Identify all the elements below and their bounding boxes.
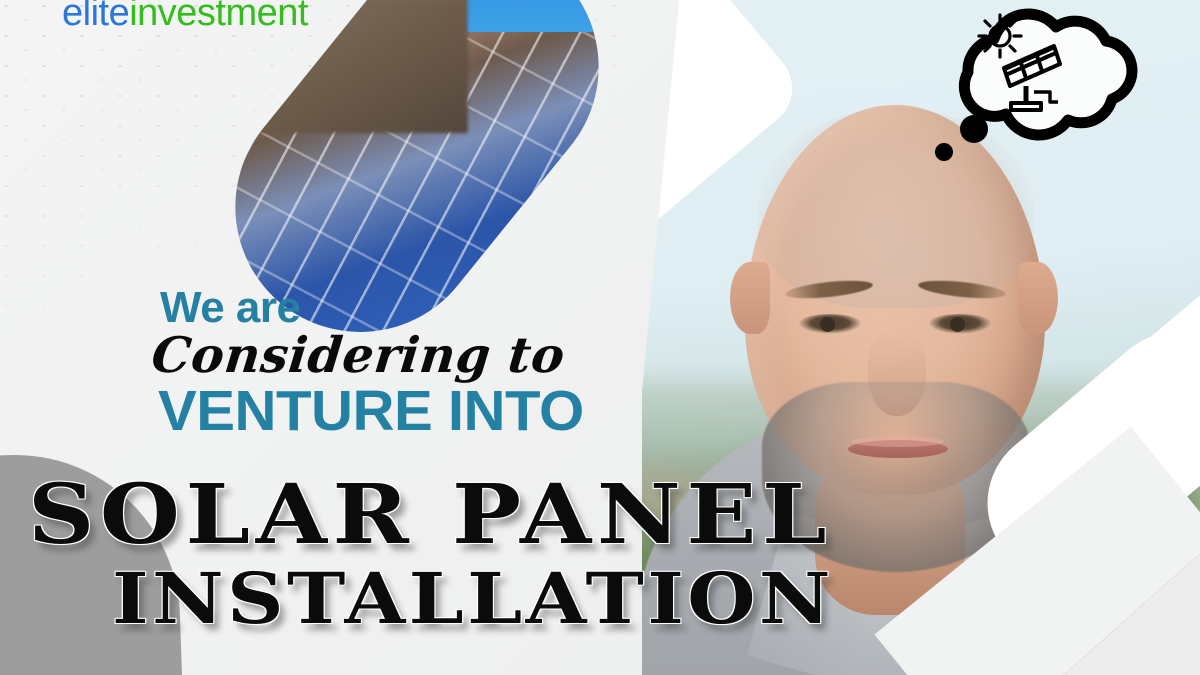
headline-line-considering: Considering to	[149, 331, 567, 380]
logo-word-investment: investment	[129, 0, 308, 34]
headline-line-venture-into: VENTURE INTO	[158, 383, 584, 440]
banner-canvas: eliteinvestment We are Considering to VE…	[0, 0, 1200, 675]
person-ear-right	[1018, 262, 1058, 334]
headline-line-installation: INSTALLATION	[112, 564, 834, 634]
brand-logo[interactable]: eliteinvestment	[62, 0, 308, 32]
person-upper-lip	[852, 436, 944, 447]
headline-line-solar-panel: SOLAR PANEL	[28, 474, 832, 556]
person-pupil-left	[820, 317, 835, 332]
thought-dot-small	[935, 143, 953, 161]
person-pupil-right	[950, 317, 965, 332]
person-ear-left	[730, 262, 770, 334]
headline-line-we-are: We are	[160, 286, 301, 330]
thought-dot-large	[960, 115, 988, 143]
thought-bubble-icon	[908, 2, 1158, 162]
logo-word-elite: elite	[62, 0, 129, 34]
